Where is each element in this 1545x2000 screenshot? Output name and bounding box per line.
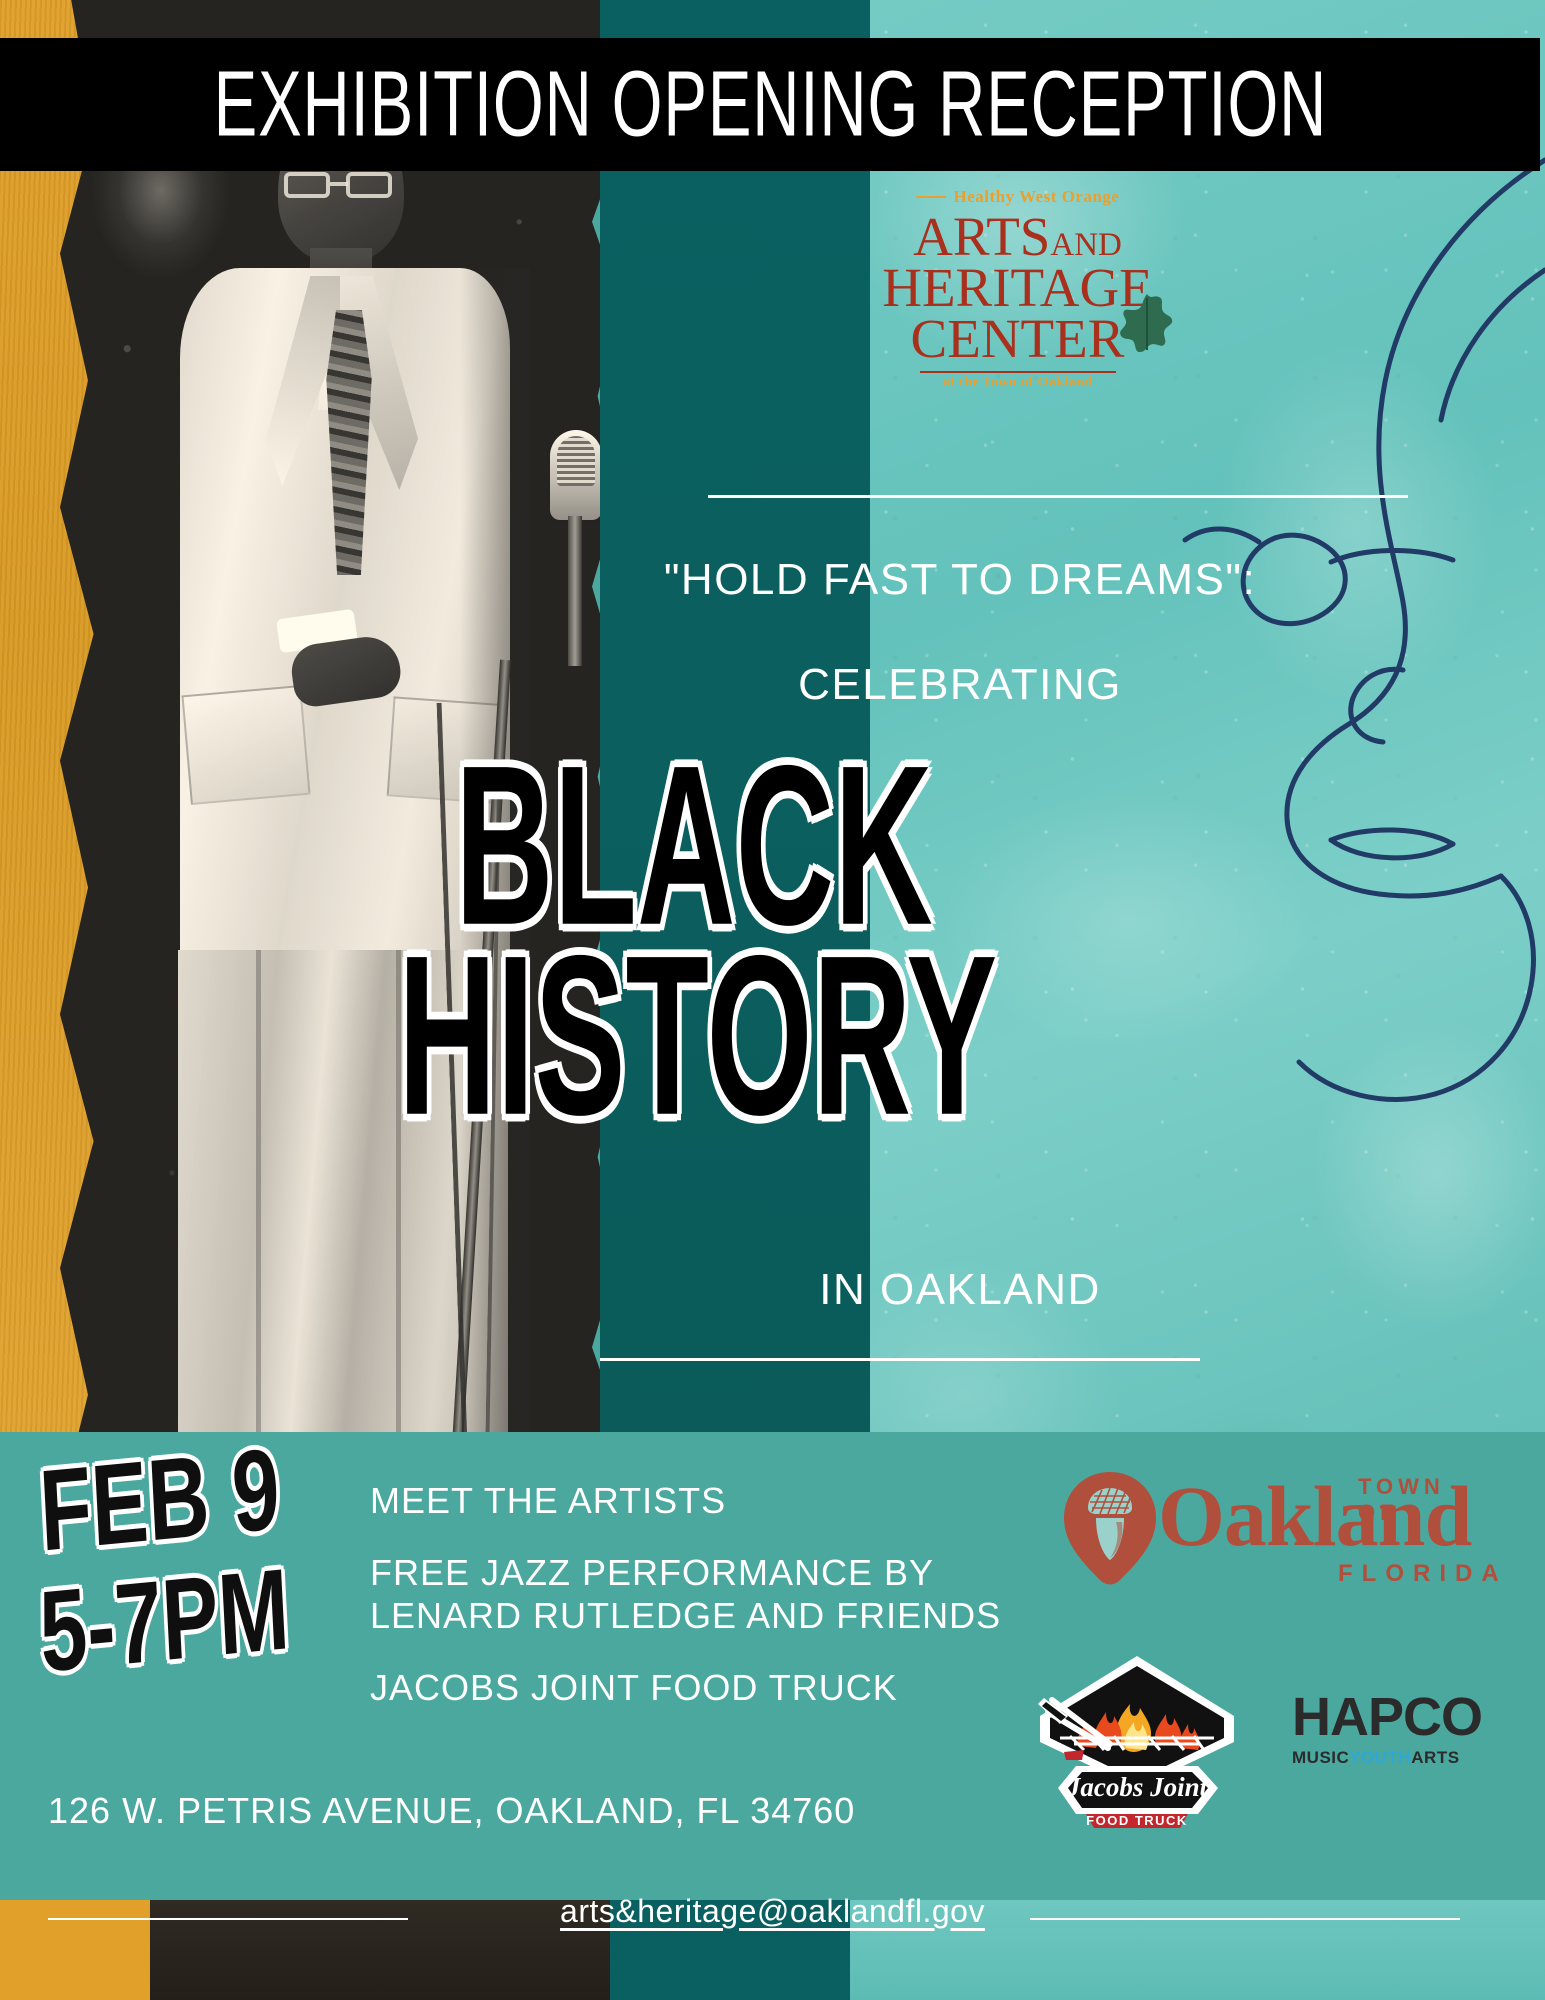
town-of-oakland-logo: Oakland TOWN OF FLORIDA (1058, 1468, 1478, 1608)
hapco-sub-music: MUSIC (1292, 1748, 1349, 1767)
big-title-history: HISTORY (398, 960, 1166, 1114)
big-title-black: BLACK (455, 770, 1067, 924)
hapco-subtitle: MUSICYOUTHARTS (1292, 1748, 1507, 1768)
event-date-block: FEB 9 5-7PM (40, 1470, 320, 1675)
event-date: FEB 9 (37, 1435, 299, 1565)
hapco-logo: HAPCO MUSICYOUTHARTS (1292, 1690, 1507, 1768)
jacobs-joint-logo: Jacobs Joint FOOD TRUCK (1022, 1638, 1252, 1828)
logo-line-arts: ARTSAND (865, 209, 1170, 264)
header-banner: EXHIBITION OPENING RECEPTION (0, 38, 1540, 171)
oak-leaf-icon (1118, 292, 1176, 354)
microphone-icon (550, 430, 602, 520)
hapco-wordmark: HAPCO (1292, 1690, 1507, 1744)
detail-item-1: MEET THE ARTISTS (370, 1480, 1030, 1522)
jacobs-joint-name: Jacobs Joint (1066, 1772, 1209, 1802)
title-divider-bottom (600, 1358, 1200, 1361)
logo-divider (920, 371, 1116, 373)
kicker-dash-icon (916, 196, 946, 198)
hapco-sub-arts: ARTS (1411, 1748, 1459, 1767)
detail-item-3: JACOBS JOINT FOOD TRUCK (370, 1667, 1030, 1709)
exhibition-title-quote: "HOLD FAST TO DREAMS": (560, 555, 1360, 605)
hapco-sub-youth: YOUTH (1349, 1748, 1411, 1767)
line-art-face (1135, 150, 1545, 1150)
title-divider-top (708, 495, 1408, 498)
poster-canvas: EXHIBITION OPENING RECEPTION Healthy Wes… (0, 0, 1545, 2000)
contact-email-link[interactable]: arts&heritage@oaklandfl.gov (0, 1893, 1545, 1930)
detail-item-2: FREE JAZZ PERFORMANCE BY LENARD RUTLEDGE… (370, 1552, 1030, 1637)
oakland-florida: FLORIDA (1338, 1560, 1508, 1588)
event-address: 126 W. PETRIS AVENUE, OAKLAND, FL 34760 (48, 1790, 855, 1832)
acorn-icon (1058, 1468, 1162, 1588)
arts-heritage-center-logo: Healthy West Orange ARTSAND HERITAGE CEN… (865, 188, 1170, 390)
exhibition-title-in-oakland: IN OAKLAND (560, 1265, 1360, 1315)
logo-kicker-row: Healthy West Orange (865, 188, 1170, 205)
logo-kicker: Healthy West Orange (954, 188, 1120, 205)
oakland-town-of: TOWN OF (1358, 1474, 1478, 1526)
banner-headline: EXHIBITION OPENING RECEPTION (213, 51, 1327, 157)
exhibition-title-celebrating: CELEBRATING (560, 660, 1360, 710)
event-time: 5-7PM (37, 1556, 299, 1686)
jacobs-joint-sub: FOOD TRUCK (1086, 1813, 1188, 1828)
logo-tagline: at the Town of Oakland (865, 376, 1170, 390)
event-details-list: MEET THE ARTISTS FREE JAZZ PERFORMANCE B… (370, 1480, 1030, 1740)
